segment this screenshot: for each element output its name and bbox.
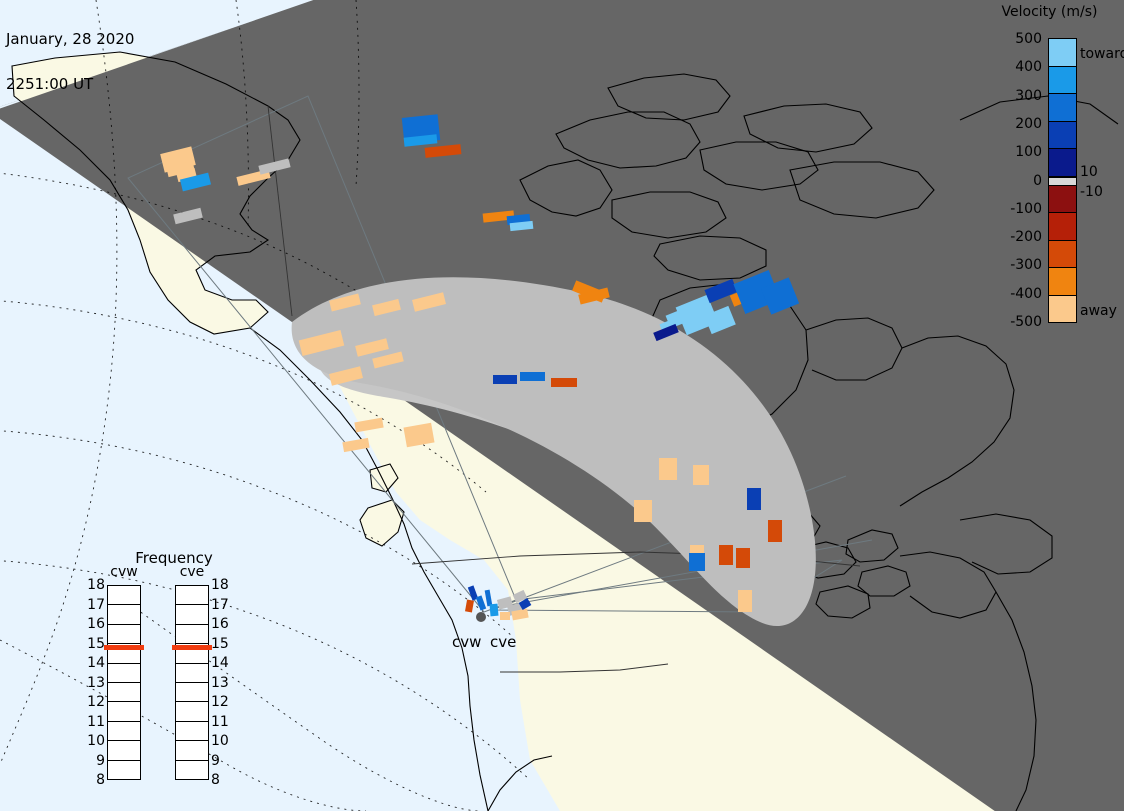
scatter-cell <box>634 500 652 522</box>
colorbar-tick-labels: 5004003002001000-100-200-300-400-500 <box>975 0 1046 340</box>
frequency-tick-16: 16 <box>211 616 229 632</box>
colorbar-label-10: 10 <box>1080 164 1098 180</box>
scatter-cell-near-range <box>500 612 510 620</box>
scatter-cell <box>738 590 752 612</box>
colorbar-gradient <box>1048 38 1077 323</box>
frequency-tick-11: 11 <box>87 714 105 730</box>
frequency-legend-panel: Frequency cvw 18171615141312111098 cve 1… <box>85 545 255 790</box>
frequency-column-label-cve: cve <box>175 564 209 580</box>
colorbar-segment-away-3 <box>1049 268 1076 296</box>
colorbar-tick-neg100: -100 <box>1010 201 1042 217</box>
site-label-cvw: cvw <box>452 633 481 651</box>
frequency-cell <box>176 722 208 741</box>
timestamp-date: January, 28 2020 <box>6 32 134 47</box>
colorbar-tick-100: 100 <box>1015 144 1042 160</box>
frequency-cell <box>176 741 208 760</box>
frequency-tick-10: 10 <box>87 733 105 749</box>
scatter-cell <box>689 553 705 571</box>
colorbar-side-labels: toward10-10away <box>1079 0 1124 340</box>
frequency-tick-15: 15 <box>87 636 105 652</box>
frequency-cell <box>176 664 208 683</box>
colorbar-label-toward: toward <box>1080 46 1124 62</box>
colorbar-segment-toward-4 <box>1049 149 1076 177</box>
colorbar-tick-0: 0 <box>1033 173 1042 189</box>
scatter-cell <box>659 458 677 480</box>
colorbar-tick-neg500: -500 <box>1010 314 1042 330</box>
colorbar-tick-300: 300 <box>1015 88 1042 104</box>
frequency-tick-13: 13 <box>211 675 229 691</box>
frequency-tick-18: 18 <box>211 577 229 593</box>
frequency-cell <box>108 586 140 605</box>
frequency-tick-10: 10 <box>211 733 229 749</box>
scatter-cell <box>520 372 545 381</box>
colorbar-segment-toward-0 <box>1049 39 1076 67</box>
timestamp-time: 2251:00 UT <box>6 77 134 92</box>
frequency-cell <box>108 683 140 702</box>
colorbar-label-neg10: -10 <box>1080 184 1103 200</box>
frequency-ticks-cvw: 18171615141312111098 <box>79 585 105 780</box>
scatter-cell <box>719 545 733 565</box>
frequency-cell <box>108 605 140 624</box>
scatter-cell <box>736 548 750 568</box>
frequency-scale-cve <box>175 585 209 780</box>
frequency-column-label-cvw: cvw <box>107 564 141 580</box>
colorbar-tick-200: 200 <box>1015 116 1042 132</box>
colorbar-tick-neg300: -300 <box>1010 257 1042 273</box>
colorbar-segment-away-1 <box>1049 213 1076 241</box>
colorbar-segment-toward-3 <box>1049 122 1076 150</box>
scatter-cell <box>493 375 517 384</box>
colorbar-tick-neg400: -400 <box>1010 286 1042 302</box>
frequency-cell <box>108 664 140 683</box>
frequency-tick-12: 12 <box>87 694 105 710</box>
frequency-scale-cvw <box>107 585 141 780</box>
frequency-column-cvw: cvw 18171615141312111098 <box>107 585 141 780</box>
frequency-tick-15: 15 <box>211 636 229 652</box>
frequency-tick-17: 17 <box>211 597 229 613</box>
scatter-cell <box>768 520 782 542</box>
frequency-tick-11: 11 <box>211 714 229 730</box>
radar-site-dot <box>476 612 486 622</box>
frequency-marker-cvw <box>104 645 144 650</box>
colorbar-tick-400: 400 <box>1015 59 1042 75</box>
frequency-cell <box>108 625 140 644</box>
frequency-tick-16: 16 <box>87 616 105 632</box>
frequency-cell <box>176 761 208 779</box>
frequency-tick-8: 8 <box>211 772 220 788</box>
frequency-cell <box>176 683 208 702</box>
colorbar-tick-neg200: -200 <box>1010 229 1042 245</box>
frequency-tick-12: 12 <box>211 694 229 710</box>
velocity-colorbar-panel: Velocity (m/s) 5004003002001000-100-200-… <box>975 0 1124 340</box>
colorbar-label-away: away <box>1080 303 1117 319</box>
colorbar-segment-away-2 <box>1049 241 1076 269</box>
site-label-cve: cve <box>490 633 516 651</box>
frequency-tick-13: 13 <box>87 675 105 691</box>
frequency-cell <box>176 625 208 644</box>
frequency-cell <box>108 722 140 741</box>
frequency-cell <box>108 702 140 721</box>
colorbar-segment-away-4 <box>1049 296 1076 323</box>
frequency-column-cve: cve 18171615141312111098 <box>175 585 209 780</box>
colorbar-tick-500: 500 <box>1015 31 1042 47</box>
timestamp: January, 28 2020 2251:00 UT <box>6 2 134 122</box>
frequency-tick-17: 17 <box>87 597 105 613</box>
colorbar-segment-away-0 <box>1049 186 1076 214</box>
colorbar-segment-toward-1 <box>1049 67 1076 95</box>
scatter-cell <box>693 465 709 485</box>
frequency-cell <box>176 586 208 605</box>
frequency-tick-14: 14 <box>87 655 105 671</box>
scatter-cell <box>747 488 761 510</box>
scatter-cell <box>551 378 577 387</box>
frequency-tick-18: 18 <box>87 577 105 593</box>
scatter-cell-near-range <box>489 604 498 617</box>
frequency-tick-9: 9 <box>96 753 105 769</box>
frequency-cell <box>176 702 208 721</box>
frequency-tick-14: 14 <box>211 655 229 671</box>
frequency-ticks-cve: 18171615141312111098 <box>211 585 237 780</box>
superdarn-fan-plot: January, 28 2020 2251:00 UT Velocity (m/… <box>0 0 1124 811</box>
frequency-cell <box>108 741 140 760</box>
colorbar-segment-zero <box>1049 177 1076 186</box>
frequency-cell <box>108 761 140 779</box>
frequency-tick-9: 9 <box>211 753 220 769</box>
frequency-tick-8: 8 <box>96 772 105 788</box>
colorbar-segment-toward-2 <box>1049 94 1076 122</box>
frequency-marker-cve <box>172 645 212 650</box>
frequency-cell <box>176 605 208 624</box>
